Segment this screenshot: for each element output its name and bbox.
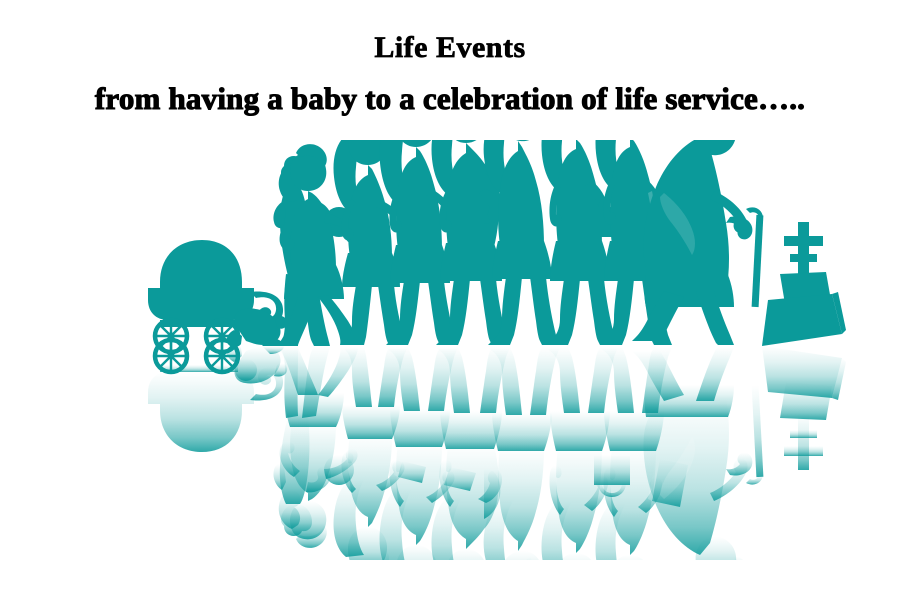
page-title: Life Events: [0, 0, 900, 65]
figure-row: [148, 140, 846, 352]
poster-canvas: Life Events from having a baby to a cele…: [0, 0, 900, 600]
life-stages-svg: [0, 140, 900, 560]
reflection-group: [148, 340, 846, 560]
page-subtitle: from having a baby to a celebration of l…: [0, 65, 900, 117]
life-stages-illustration: [0, 140, 900, 560]
silhouette-group: [148, 140, 846, 352]
title-block: Life Events from having a baby to a cele…: [0, 0, 900, 117]
